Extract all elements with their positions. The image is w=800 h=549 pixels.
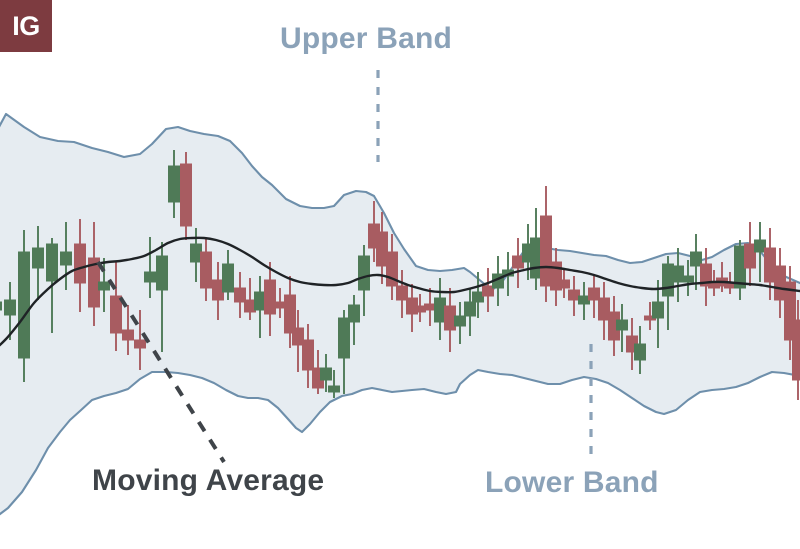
candle-body [589,288,600,300]
candle-body [755,240,766,252]
candle-body [245,300,256,312]
candle-body [473,292,484,302]
candle-body [5,300,16,315]
candle-body [275,302,286,308]
candle-body [691,252,702,266]
candle-body [579,296,590,304]
candlestick [541,186,552,302]
candle-body [0,302,2,310]
candle-body [793,320,800,380]
candle-body [617,320,628,330]
candle-body [559,280,570,288]
candle-body [99,282,110,290]
candle-body [293,328,304,345]
candle-body [19,252,30,358]
chart-canvas: IG Upper Band Lower Band Moving Average [0,0,800,549]
candle-body [455,316,466,326]
annotation-upper-band: Upper Band [280,24,452,54]
candle-body [513,256,524,268]
candle-body [359,256,370,290]
candle-body [635,344,646,360]
candle-body [745,244,756,268]
candle-body [223,264,234,292]
candle-body [265,280,276,314]
candle-body [47,244,58,281]
candle-body [181,164,192,226]
candle-body [135,340,146,348]
candle-body [111,296,122,333]
candlestick [531,208,542,290]
candle-body [255,292,266,310]
candle-body [541,216,552,286]
candle-body [349,305,360,322]
candle-body [169,166,180,202]
candle-body [213,280,224,300]
candle-body [285,295,296,333]
candle-body [191,244,202,262]
candle-body [303,340,314,370]
candle-body [663,264,674,296]
candle-body [397,286,408,300]
candle-body [465,302,476,316]
candle-body [201,252,212,288]
candle-body [765,248,776,282]
candle-body [145,272,156,282]
candle-body [123,330,134,340]
candle-body [653,302,664,318]
annotation-lower-band: Lower Band [485,468,659,498]
candle-body [157,256,168,290]
candle-body [61,252,72,265]
candle-body [599,298,610,320]
candle-body [415,306,426,312]
candle-body [735,246,746,288]
candle-body [435,298,446,322]
candle-body [445,306,456,330]
candle-body [33,248,44,268]
candle-body [339,318,350,358]
candle-body [425,304,436,310]
ig-logo-text: IG [12,13,40,40]
candle-body [531,238,542,278]
candle-body [75,244,86,283]
annotation-moving-average: Moving Average [92,466,324,496]
candle-body [321,368,332,380]
candle-body [377,232,388,266]
ig-logo: IG [0,0,52,52]
candle-body [569,290,580,300]
candle-body [683,276,694,282]
candle-body [725,284,736,288]
candle-body [673,266,684,282]
candle-body [329,386,340,392]
candle-body [775,266,786,300]
candle-body [235,288,246,302]
candle-body [483,286,494,296]
